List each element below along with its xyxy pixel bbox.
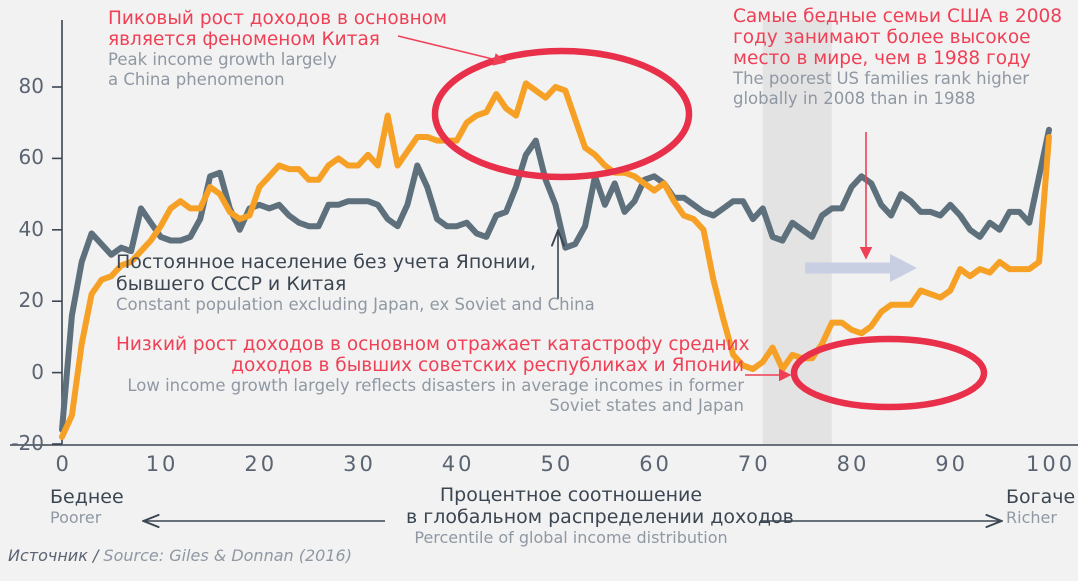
axis-caption-poorer-ru: Беднее [50,486,124,508]
annotation-peak-ru-1: Пиковый рост доходов в основном [108,8,447,29]
x-tick-label: 50 [541,452,574,476]
y-tick-label: -20 [4,431,44,455]
x-tick-label: 40 [442,452,475,476]
axis-caption-poorer: Беднее Poorer [50,486,124,527]
annotation-peak-en-1: Peak income growth largely [108,50,447,70]
x-tick-label: 100 [1026,452,1075,476]
annotation-poorest-en-2: globally in 2008 than in 1988 [733,89,1062,109]
axis-caption-richer: Богаче Richer [1006,486,1075,527]
x-tick-label: 60 [639,452,672,476]
annotation-low-en-1: Low income growth largely reflects disas… [116,376,744,396]
y-tick-label: 60 [4,145,44,169]
annotation-low-ru-1: Низкий рост доходов в основном отражает … [116,334,744,355]
annotation-peak-growth: Пиковый рост доходов в основном является… [108,8,447,90]
annotation-poorest-us: Самые бедные семьи США в 2008 году заним… [733,6,1062,109]
annotation-poorest-ru-3: место в мире, чем в 1988 году [733,48,1062,69]
x-tick-label: 20 [244,452,277,476]
y-tick-label: 40 [4,217,44,241]
annotation-peak-en-2: a China phenomenon [108,70,447,90]
axis-title: Процентное соотношение в глобальном расп… [406,484,736,547]
annotation-poorest-en-1: The poorest US families rank higher [733,69,1062,89]
annotation-low-en-2: Soviet states and Japan [116,396,744,416]
annotation-constant-population: Постоянное население без учета Японии, б… [116,251,595,315]
axis-caption-richer-ru: Богаче [1006,486,1075,508]
annotation-low-growth: Низкий рост доходов в основном отражает … [116,334,744,416]
axis-caption-richer-en: Richer [1006,508,1075,527]
x-tick-label: 70 [738,452,771,476]
axis-title-ru-2: в глобальном распределении доходов [406,506,736,528]
annotation-poorest-ru-1: Самые бедные семьи США в 2008 [733,6,1062,27]
chart-root: Пиковый рост доходов в основном является… [0,0,1078,581]
annotation-peak-ru-2: является феноменом Китая [108,29,447,50]
annotation-poorest-ru-2: году занимают более высокое [733,27,1062,48]
highlight-ellipse-low [794,339,984,407]
source-note: Источник / Source: Giles & Donnan (2016) [8,546,352,565]
highlight-ellipse-peak [435,51,689,177]
x-tick-label: 10 [146,452,179,476]
axis-caption-poorer-en: Poorer [50,508,124,527]
x-tick-label: 90 [935,452,968,476]
axis-title-ru-1: Процентное соотношение [406,484,736,506]
annotation-low-ru-2: доходов в бывших советских республиках и… [116,355,744,376]
annotation-constant-ru-1: Постоянное население без учета Японии, [116,251,595,273]
source-label-ru: Источник / [8,546,103,565]
y-tick-label: 20 [4,288,44,312]
x-tick-label: 80 [837,452,870,476]
y-tick-label: 80 [4,74,44,98]
x-tick-label: 30 [343,452,376,476]
axis-title-en: Percentile of global income distribution [406,528,736,547]
x-tick-label: 0 [56,452,72,476]
annotation-constant-en-1: Constant population excluding Japan, ex … [116,295,595,315]
annotation-constant-ru-2: бывшего СССР и Китая [116,273,595,295]
y-tick-label: 0 [4,360,44,384]
arrow-shift-right-head [890,254,917,282]
source-label-en: Source: Giles & Donnan (2016) [103,546,352,565]
